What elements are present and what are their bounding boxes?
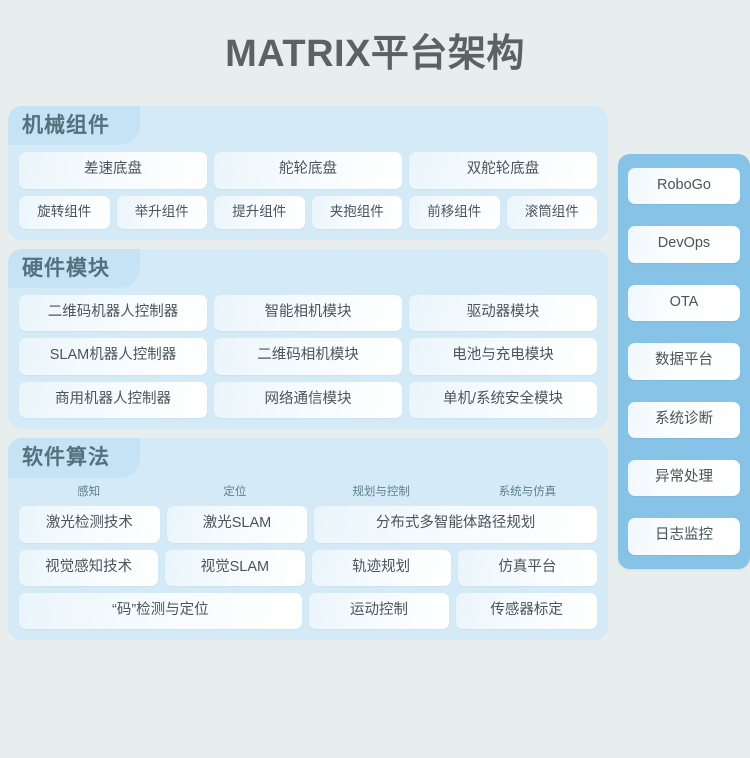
section-title-hardware: 硬件模块	[8, 249, 140, 288]
card-software-item[interactable]: 仿真平台	[458, 550, 597, 586]
card-row: 差速底盘 舵轮底盘 双舵轮底盘	[19, 152, 597, 188]
card-software-item[interactable]: 轨迹规划	[312, 550, 451, 586]
card-software-item[interactable]: “码”检测与定位	[19, 593, 302, 629]
card-mechanical-item[interactable]: 前移组件	[409, 196, 500, 229]
sidebar-item-log-monitoring[interactable]: 日志监控	[628, 518, 740, 554]
section-body-software: 感知 定位 规划与控制 系统与仿真 激光检测技术 激光SLAM 分布式多智能体路…	[8, 478, 608, 630]
architecture-board: 机械组件 差速底盘 舵轮底盘 双舵轮底盘 旋转组件 举升组件 提升组件 夹抱组件…	[0, 106, 750, 726]
section-mechanical: 机械组件 差速底盘 舵轮底盘 双舵轮底盘 旋转组件 举升组件 提升组件 夹抱组件…	[8, 106, 608, 240]
card-software-item[interactable]: 视觉感知技术	[19, 550, 158, 586]
card-hardware-item[interactable]: 智能相机模块	[214, 295, 402, 331]
section-title-software: 软件算法	[8, 438, 140, 477]
card-mechanical-item[interactable]: 舵轮底盘	[214, 152, 402, 188]
card-software-item[interactable]: 视觉SLAM	[165, 550, 304, 586]
column-label-planning-control: 规划与控制	[312, 486, 451, 500]
page-title: MATRIX平台架构	[0, 0, 750, 76]
sidebar: RoboGo DevOps OTA 数据平台 系统诊断 异常处理 日志监控	[618, 154, 750, 569]
card-hardware-item[interactable]: SLAM机器人控制器	[19, 338, 207, 374]
sidebar-item-system-diagnostics[interactable]: 系统诊断	[628, 402, 740, 438]
card-mechanical-item[interactable]: 旋转组件	[19, 196, 110, 229]
card-software-item[interactable]: 激光检测技术	[19, 506, 160, 542]
card-software-item[interactable]: 运动控制	[309, 593, 450, 629]
sidebar-item-exception-handling[interactable]: 异常处理	[628, 460, 740, 496]
column-label-system-simulation: 系统与仿真	[458, 486, 597, 500]
software-column-labels: 感知 定位 规划与控制 系统与仿真	[19, 485, 597, 500]
sidebar-item-data-platform[interactable]: 数据平台	[628, 343, 740, 379]
platform-services-column: RoboGo DevOps OTA 数据平台 系统诊断 异常处理 日志监控	[618, 154, 750, 569]
card-row: 旋转组件 举升组件 提升组件 夹抱组件 前移组件 滚筒组件	[19, 196, 597, 229]
card-row: 视觉感知技术 视觉SLAM 轨迹规划 仿真平台	[19, 550, 597, 586]
section-body-mechanical: 差速底盘 舵轮底盘 双舵轮底盘 旋转组件 举升组件 提升组件 夹抱组件 前移组件…	[8, 145, 608, 229]
card-mechanical-item[interactable]: 滚筒组件	[507, 196, 598, 229]
card-row: 商用机器人控制器 网络通信模块 单机/系统安全模块	[19, 382, 597, 418]
section-hardware: 硬件模块 二维码机器人控制器 智能相机模块 驱动器模块 SLAM机器人控制器 二…	[8, 249, 608, 429]
card-software-item[interactable]: 传感器标定	[456, 593, 597, 629]
section-software: 软件算法 感知 定位 规划与控制 系统与仿真 激光检测技术 激光SLAM 分布式…	[8, 438, 608, 640]
column-label-perception: 感知	[19, 486, 158, 500]
column-label-localization: 定位	[165, 486, 304, 500]
sidebar-item-ota[interactable]: OTA	[628, 285, 740, 321]
card-hardware-item[interactable]: 单机/系统安全模块	[409, 382, 597, 418]
card-row: SLAM机器人控制器 二维码相机模块 电池与充电模块	[19, 338, 597, 374]
sidebar-item-devops[interactable]: DevOps	[628, 226, 740, 262]
card-mechanical-item[interactable]: 差速底盘	[19, 152, 207, 188]
card-hardware-item[interactable]: 网络通信模块	[214, 382, 402, 418]
card-mechanical-item[interactable]: 举升组件	[117, 196, 208, 229]
card-hardware-item[interactable]: 商用机器人控制器	[19, 382, 207, 418]
card-row: 二维码机器人控制器 智能相机模块 驱动器模块	[19, 295, 597, 331]
card-hardware-item[interactable]: 二维码机器人控制器	[19, 295, 207, 331]
sidebar-item-robogo[interactable]: RoboGo	[628, 168, 740, 204]
section-title-mechanical: 机械组件	[8, 106, 140, 145]
card-hardware-item[interactable]: 二维码相机模块	[214, 338, 402, 374]
card-hardware-item[interactable]: 驱动器模块	[409, 295, 597, 331]
card-row: 激光检测技术 激光SLAM 分布式多智能体路径规划	[19, 506, 597, 542]
card-software-item[interactable]: 激光SLAM	[167, 506, 308, 542]
card-software-item[interactable]: 分布式多智能体路径规划	[314, 506, 597, 542]
card-hardware-item[interactable]: 电池与充电模块	[409, 338, 597, 374]
card-mechanical-item[interactable]: 提升组件	[214, 196, 305, 229]
section-body-hardware: 二维码机器人控制器 智能相机模块 驱动器模块 SLAM机器人控制器 二维码相机模…	[8, 288, 608, 418]
card-row: “码”检测与定位 运动控制 传感器标定	[19, 593, 597, 629]
card-mechanical-item[interactable]: 夹抱组件	[312, 196, 403, 229]
sections-column: 机械组件 差速底盘 舵轮底盘 双舵轮底盘 旋转组件 举升组件 提升组件 夹抱组件…	[8, 106, 608, 640]
card-mechanical-item[interactable]: 双舵轮底盘	[409, 152, 597, 188]
